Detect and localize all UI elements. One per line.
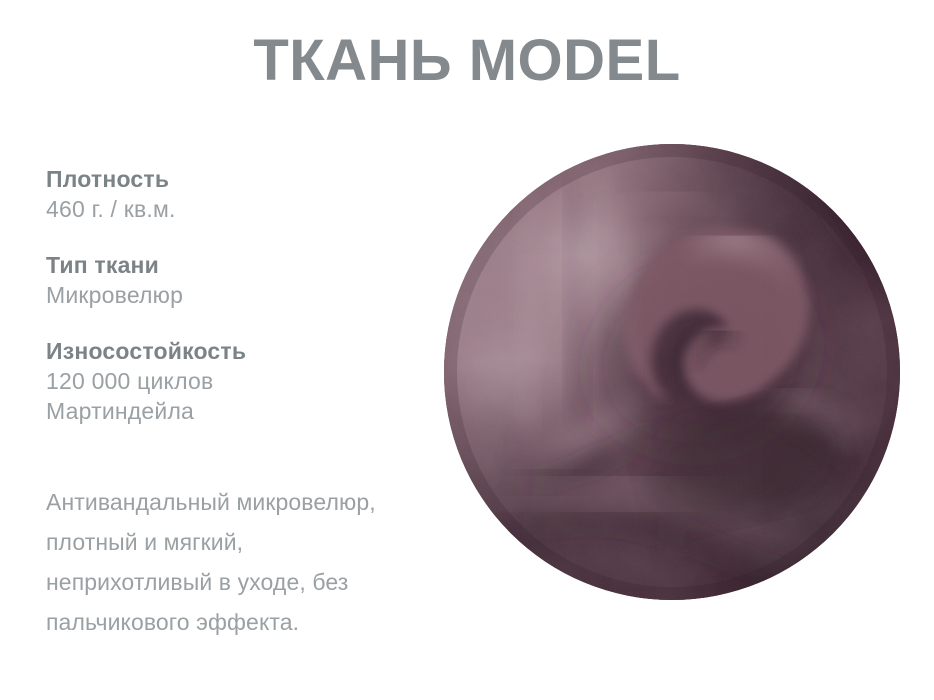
fabric-photo bbox=[444, 144, 900, 600]
description-line: плотный и мягкий, bbox=[46, 522, 446, 562]
description-line: Антивандальный микровелюр, bbox=[46, 482, 446, 522]
spec-value-density: 460 г. / кв.м. bbox=[46, 194, 446, 224]
spec-item-fabric-type: Тип ткани Микровелюр bbox=[46, 251, 446, 311]
spec-label-fabric-type: Тип ткани bbox=[46, 251, 446, 280]
spec-item-durability: Износостойкость 120 000 циклов Мартиндей… bbox=[46, 337, 446, 427]
spec-value-line: 120 000 циклов bbox=[46, 366, 446, 396]
description-line: неприхотливый в уходе, без bbox=[46, 562, 446, 602]
spec-value-line: Микровелюр bbox=[46, 280, 446, 310]
fabric-photo-illustration bbox=[444, 144, 900, 600]
spec-value-line: Мартиндейла bbox=[46, 396, 446, 426]
spec-item-density: Плотность 460 г. / кв.м. bbox=[46, 165, 446, 225]
spec-value-line: 460 г. / кв.м. bbox=[46, 194, 446, 224]
description-text: Антивандальный микровелюр, плотный и мяг… bbox=[46, 482, 446, 642]
description-line: пальчикового эффекта. bbox=[46, 602, 446, 642]
spec-list: Плотность 460 г. / кв.м. Тип ткани Микро… bbox=[46, 165, 446, 427]
page-title: ТКАНЬ MODEL bbox=[0, 28, 934, 95]
spec-value-fabric-type: Микровелюр bbox=[46, 280, 446, 310]
slide: ТКАНЬ MODEL Плотность 460 г. / кв.м. Тип… bbox=[0, 0, 934, 700]
spec-value-durability: 120 000 циклов Мартиндейла bbox=[46, 366, 446, 427]
spec-label-durability: Износостойкость bbox=[46, 337, 446, 366]
spec-label-density: Плотность bbox=[46, 165, 446, 194]
